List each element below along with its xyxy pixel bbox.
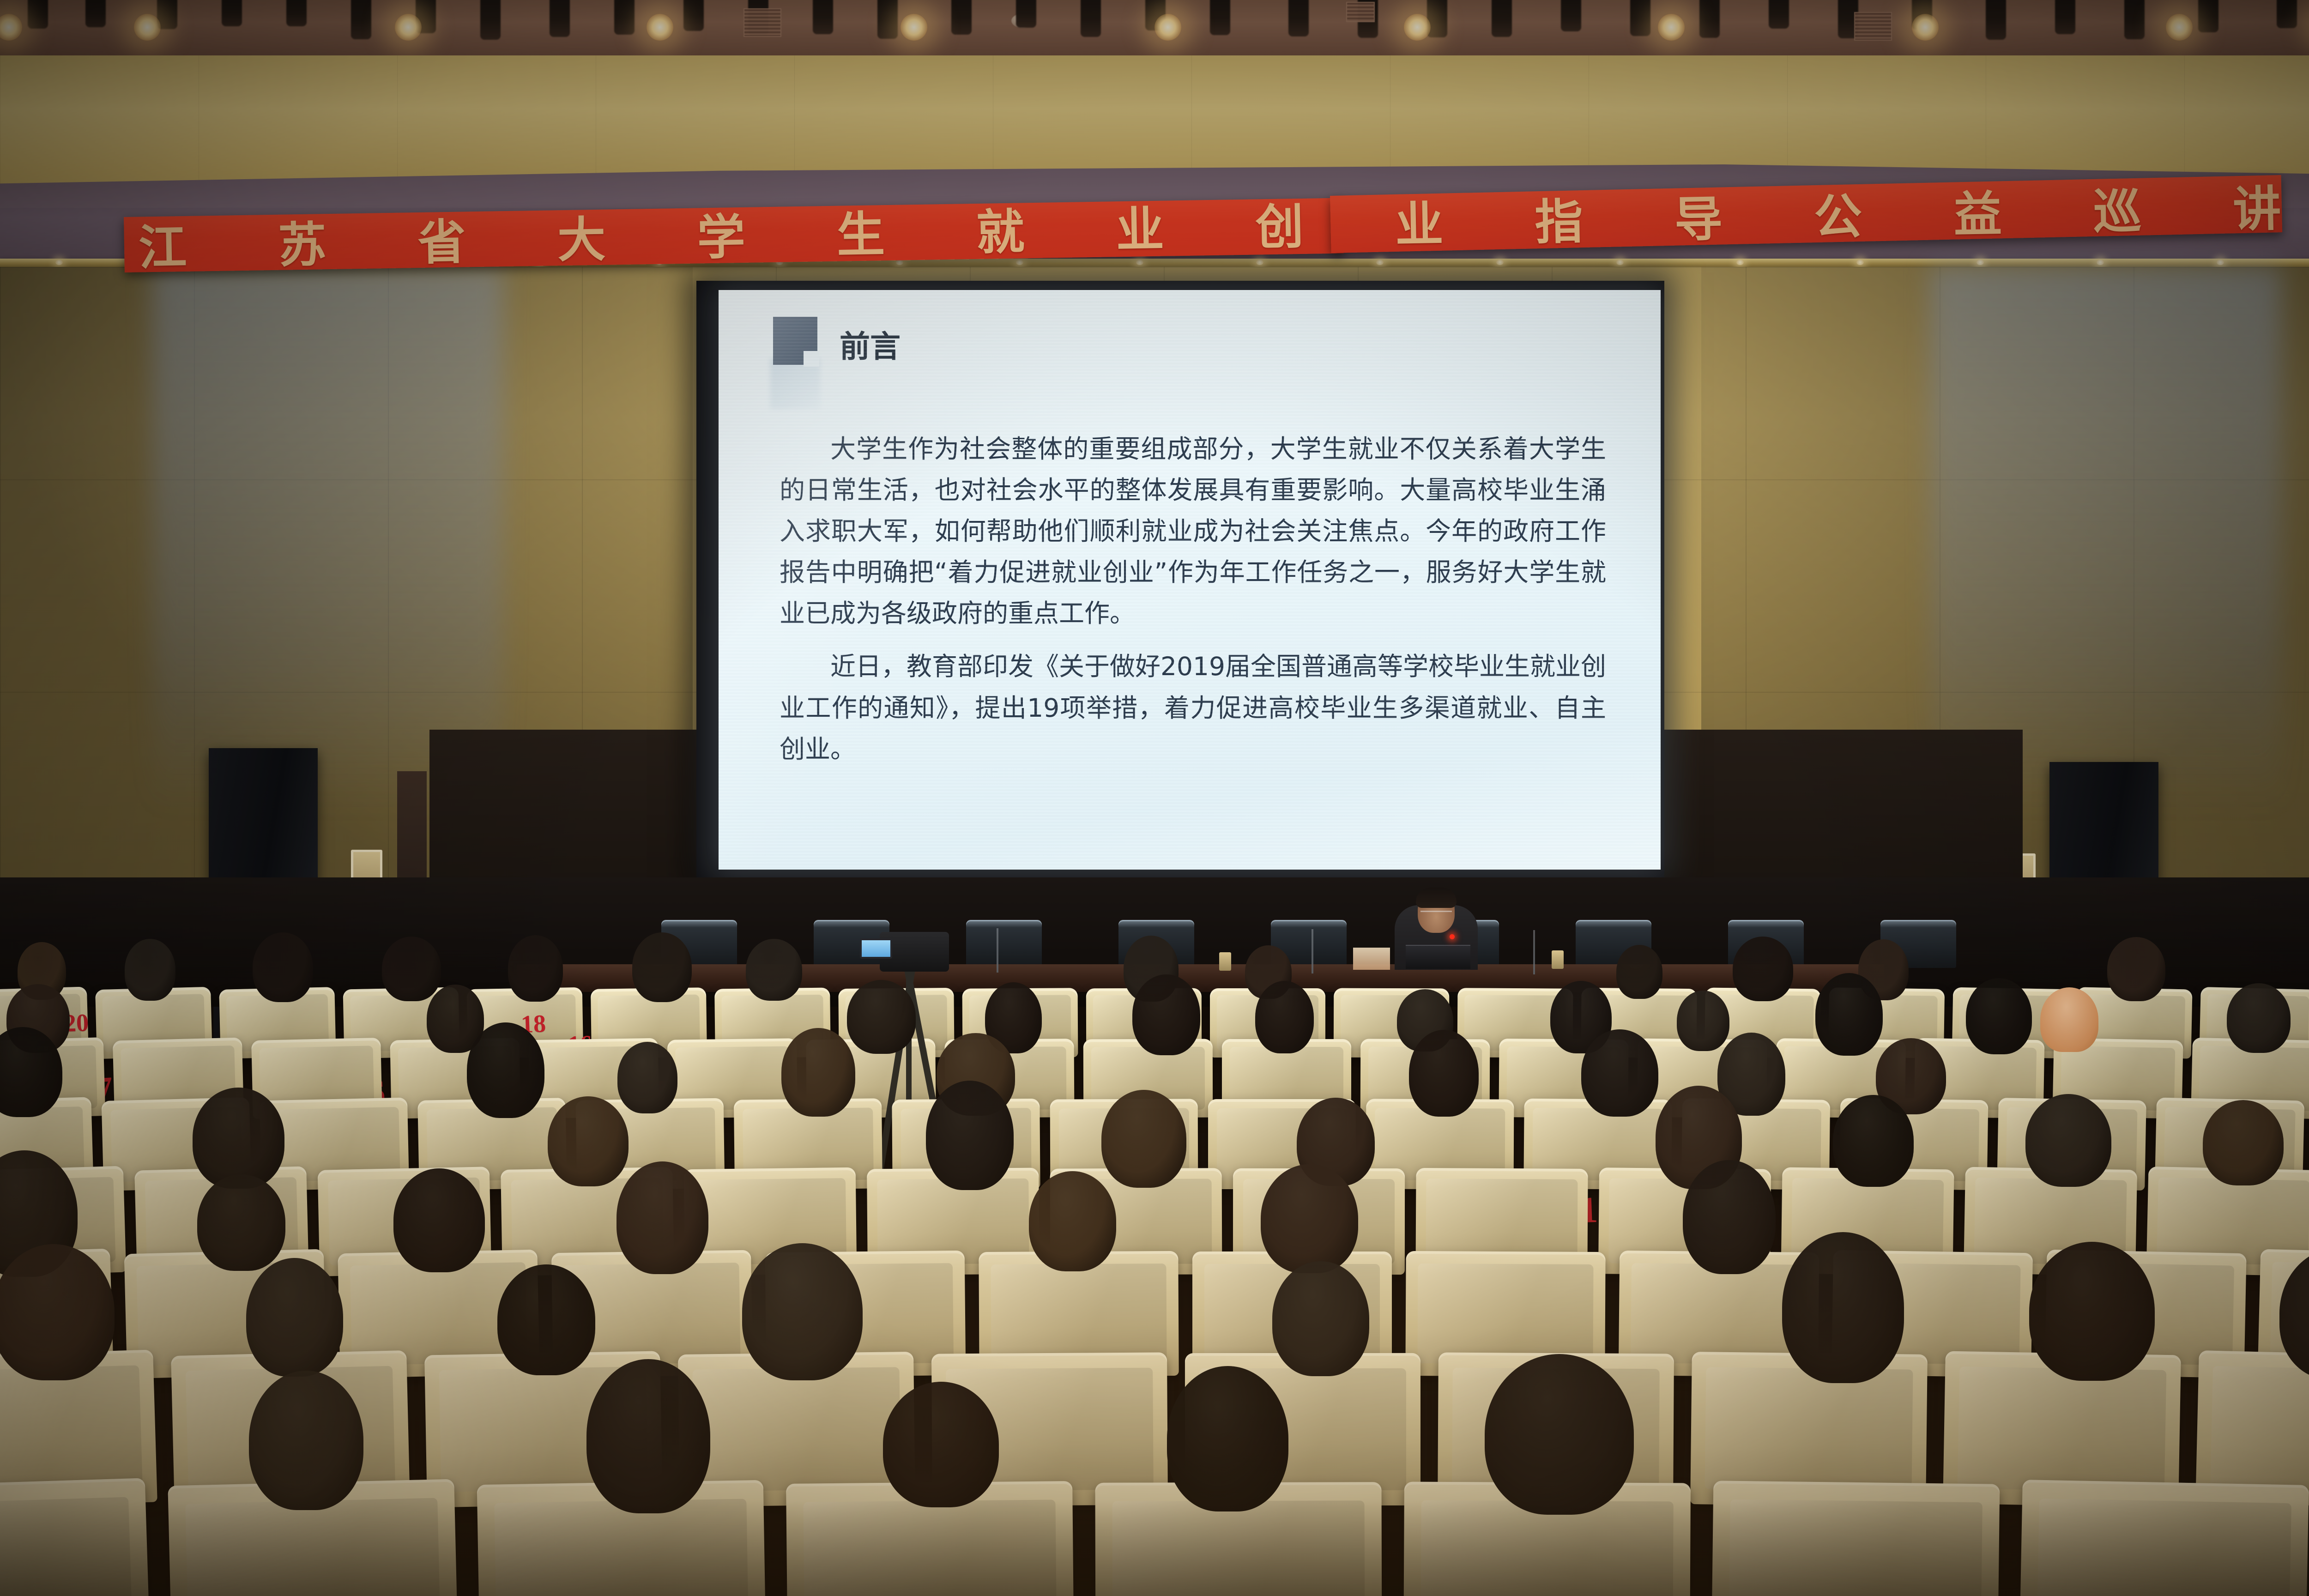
- ceiling-beam: [683, 0, 704, 31]
- audience-member-head: [883, 1382, 999, 1507]
- ceiling-beam: [2277, 0, 2297, 28]
- slide-header: 前言: [773, 317, 901, 365]
- cove-light: [1256, 260, 1263, 265]
- audience-member-head: [2025, 1094, 2111, 1187]
- cove-light: [1736, 260, 1744, 265]
- water-cup: [1219, 952, 1231, 971]
- audience-member-head: [2227, 983, 2291, 1053]
- audience-member-head: [193, 1088, 284, 1188]
- ceiling-beam: [1561, 0, 1581, 31]
- audience-member-head: [1029, 1171, 1116, 1271]
- audience-member-head: [781, 1028, 855, 1117]
- ceiling-beam: [550, 0, 570, 37]
- cove-light: [2097, 260, 2104, 265]
- audience-member-head: [847, 980, 916, 1054]
- cove-light: [1376, 260, 1384, 265]
- slide-accent-square-icon: [773, 317, 817, 365]
- audience-member-head: [1167, 1366, 1288, 1511]
- audience-member-beanie: [2040, 987, 2098, 1052]
- audience-member-head: [1966, 978, 2032, 1054]
- ceiling-beam: [85, 0, 106, 27]
- audience-member-head: [586, 1359, 710, 1513]
- audience-member-head: [1261, 1164, 1358, 1273]
- glasses-icon: [1420, 911, 1452, 918]
- cove-light: [1016, 260, 1023, 265]
- ceiling-beam: [28, 0, 48, 29]
- audience-member-head: [1485, 1354, 1634, 1515]
- audience-member-head: [617, 1042, 678, 1113]
- ceiling-vent: [743, 8, 781, 37]
- ceiling-beam: [951, 0, 972, 35]
- audience-seat: [1711, 1481, 2000, 1596]
- cove-light: [1977, 260, 1984, 265]
- audience-member-head: [2203, 1100, 2284, 1185]
- microphone-stand: [997, 928, 998, 973]
- audience-member-head: [253, 932, 313, 1003]
- cove-light: [1616, 260, 1624, 265]
- ceiling-beam: [1427, 0, 1447, 37]
- audience-member-head: [0, 1244, 115, 1380]
- ceiling-beam: [1769, 0, 1789, 29]
- audience-member-head: [617, 1161, 708, 1274]
- water-cup: [1552, 950, 1564, 969]
- ceiling-beam: [1492, 0, 1512, 37]
- ceiling-beam: [1210, 0, 1230, 35]
- slide-title: 前言: [840, 332, 901, 365]
- cove-light: [55, 260, 63, 265]
- ceiling-beam: [222, 0, 242, 26]
- audience-member-head: [548, 1096, 629, 1186]
- audience-member-head: [1833, 1095, 1914, 1187]
- ceiling-beam: [2055, 0, 2075, 34]
- microphone-stand: [1533, 930, 1535, 974]
- audience-member-head: [1409, 1030, 1479, 1117]
- stage-chair: [966, 920, 1042, 968]
- audience-member-head: [2029, 1242, 2155, 1381]
- ceiling-beam: [1699, 0, 1720, 38]
- ceiling-beam: [1081, 0, 1101, 37]
- slide-paragraph: 大学生作为社会整体的重要组成部分，大学生就业不仅关系着大学生的日常生活，也对社会…: [780, 429, 1606, 634]
- audience-member-head: [742, 1243, 863, 1380]
- ceiling-beam: [351, 0, 371, 39]
- ceiling-spotlight: [2166, 14, 2193, 41]
- auditorium-scene: 江苏省大学生就业创业指导公益巡讲 前言 大学生作为社会整体的重要组成部分，大学生…: [0, 0, 2309, 1596]
- audience-seat: [0, 1478, 151, 1596]
- ceiling-beam: [877, 0, 898, 39]
- stage-table: [517, 964, 1884, 992]
- slide-body: 大学生作为社会整体的重要组成部分，大学生就业不仅关系着大学生的日常生活，也对社会…: [780, 429, 1606, 782]
- audience-member-head: [1255, 981, 1314, 1053]
- audience-member-head: [1733, 937, 1793, 1001]
- microphone-led-indicator: [1450, 934, 1455, 939]
- ceiling-beam: [480, 0, 501, 40]
- camcorder-lcd-screen: [860, 938, 892, 959]
- cove-light: [1496, 260, 1504, 265]
- ceiling-vent: [1346, 2, 1375, 22]
- audience-member-head: [1616, 945, 1663, 999]
- audience-member-head: [382, 937, 441, 1001]
- ceiling-spotlight: [647, 14, 673, 41]
- ceiling-beam: [1288, 0, 1309, 36]
- table-nameplate: [1353, 948, 1390, 970]
- audience-member-head: [632, 932, 692, 1002]
- audience-member-head: [1782, 1232, 1904, 1383]
- ceiling-beam: [614, 0, 635, 35]
- presenter-hair: [1416, 888, 1457, 908]
- ceiling-spotlight: [395, 14, 422, 41]
- cove-light: [896, 260, 903, 265]
- audience-member-head: [1581, 1029, 1658, 1117]
- presenter-laptop: [1406, 945, 1470, 969]
- audience-member-head: [246, 1258, 343, 1377]
- audience-member-head: [1101, 1090, 1186, 1188]
- ceiling-spotlight: [1658, 14, 1685, 41]
- projection-screen[interactable]: 前言 大学生作为社会整体的重要组成部分，大学生就业不仅关系着大学生的日常生活，也…: [719, 290, 1661, 870]
- ceiling-spotlight: [901, 14, 927, 41]
- ceiling-spotlight: [134, 14, 161, 41]
- audience-member-head: [2107, 937, 2165, 1001]
- ceiling-vent: [1854, 12, 1892, 41]
- cove-light: [1856, 260, 1864, 265]
- ceiling-beam: [2124, 0, 2145, 39]
- cove-light: [1136, 260, 1143, 265]
- audience-member-head: [197, 1174, 285, 1271]
- audience-member-head: [467, 1022, 545, 1118]
- audience-member-head: [1683, 1160, 1775, 1274]
- audience-member-head: [926, 1081, 1014, 1190]
- ceiling-spotlight: [1404, 14, 1431, 41]
- audience-member-head: [1677, 991, 1729, 1052]
- audience-member-head: [249, 1371, 363, 1510]
- audience-member-head: [1132, 974, 1200, 1055]
- ceiling-beam: [2198, 0, 2218, 32]
- microphone-stand: [1312, 929, 1313, 973]
- audience-member-head: [1272, 1261, 1370, 1376]
- audience-member-head: [1815, 973, 1883, 1056]
- ceiling-beam: [1986, 0, 2006, 40]
- ceiling-beam: [286, 0, 307, 26]
- slide-paragraph: 近日，教育部印发《关于做好2019届全国普通高等学校毕业生就业创业工作的通知》，…: [780, 646, 1606, 769]
- audience-seat: [2019, 1480, 2309, 1596]
- ceiling-spotlight: [1154, 14, 1181, 41]
- ceiling-beam: [813, 0, 833, 34]
- audience-member-head: [125, 939, 176, 1001]
- audience-member-head: [393, 1168, 485, 1272]
- audience-member-head: [497, 1264, 595, 1375]
- ceiling-beam: [1630, 0, 1650, 36]
- ceiling-beam: [1016, 0, 1036, 28]
- ceiling-spotlight: [1912, 14, 1939, 41]
- audience-member-head: [508, 935, 563, 1001]
- audience-member-head: [746, 939, 802, 1001]
- cove-light: [2217, 260, 2224, 265]
